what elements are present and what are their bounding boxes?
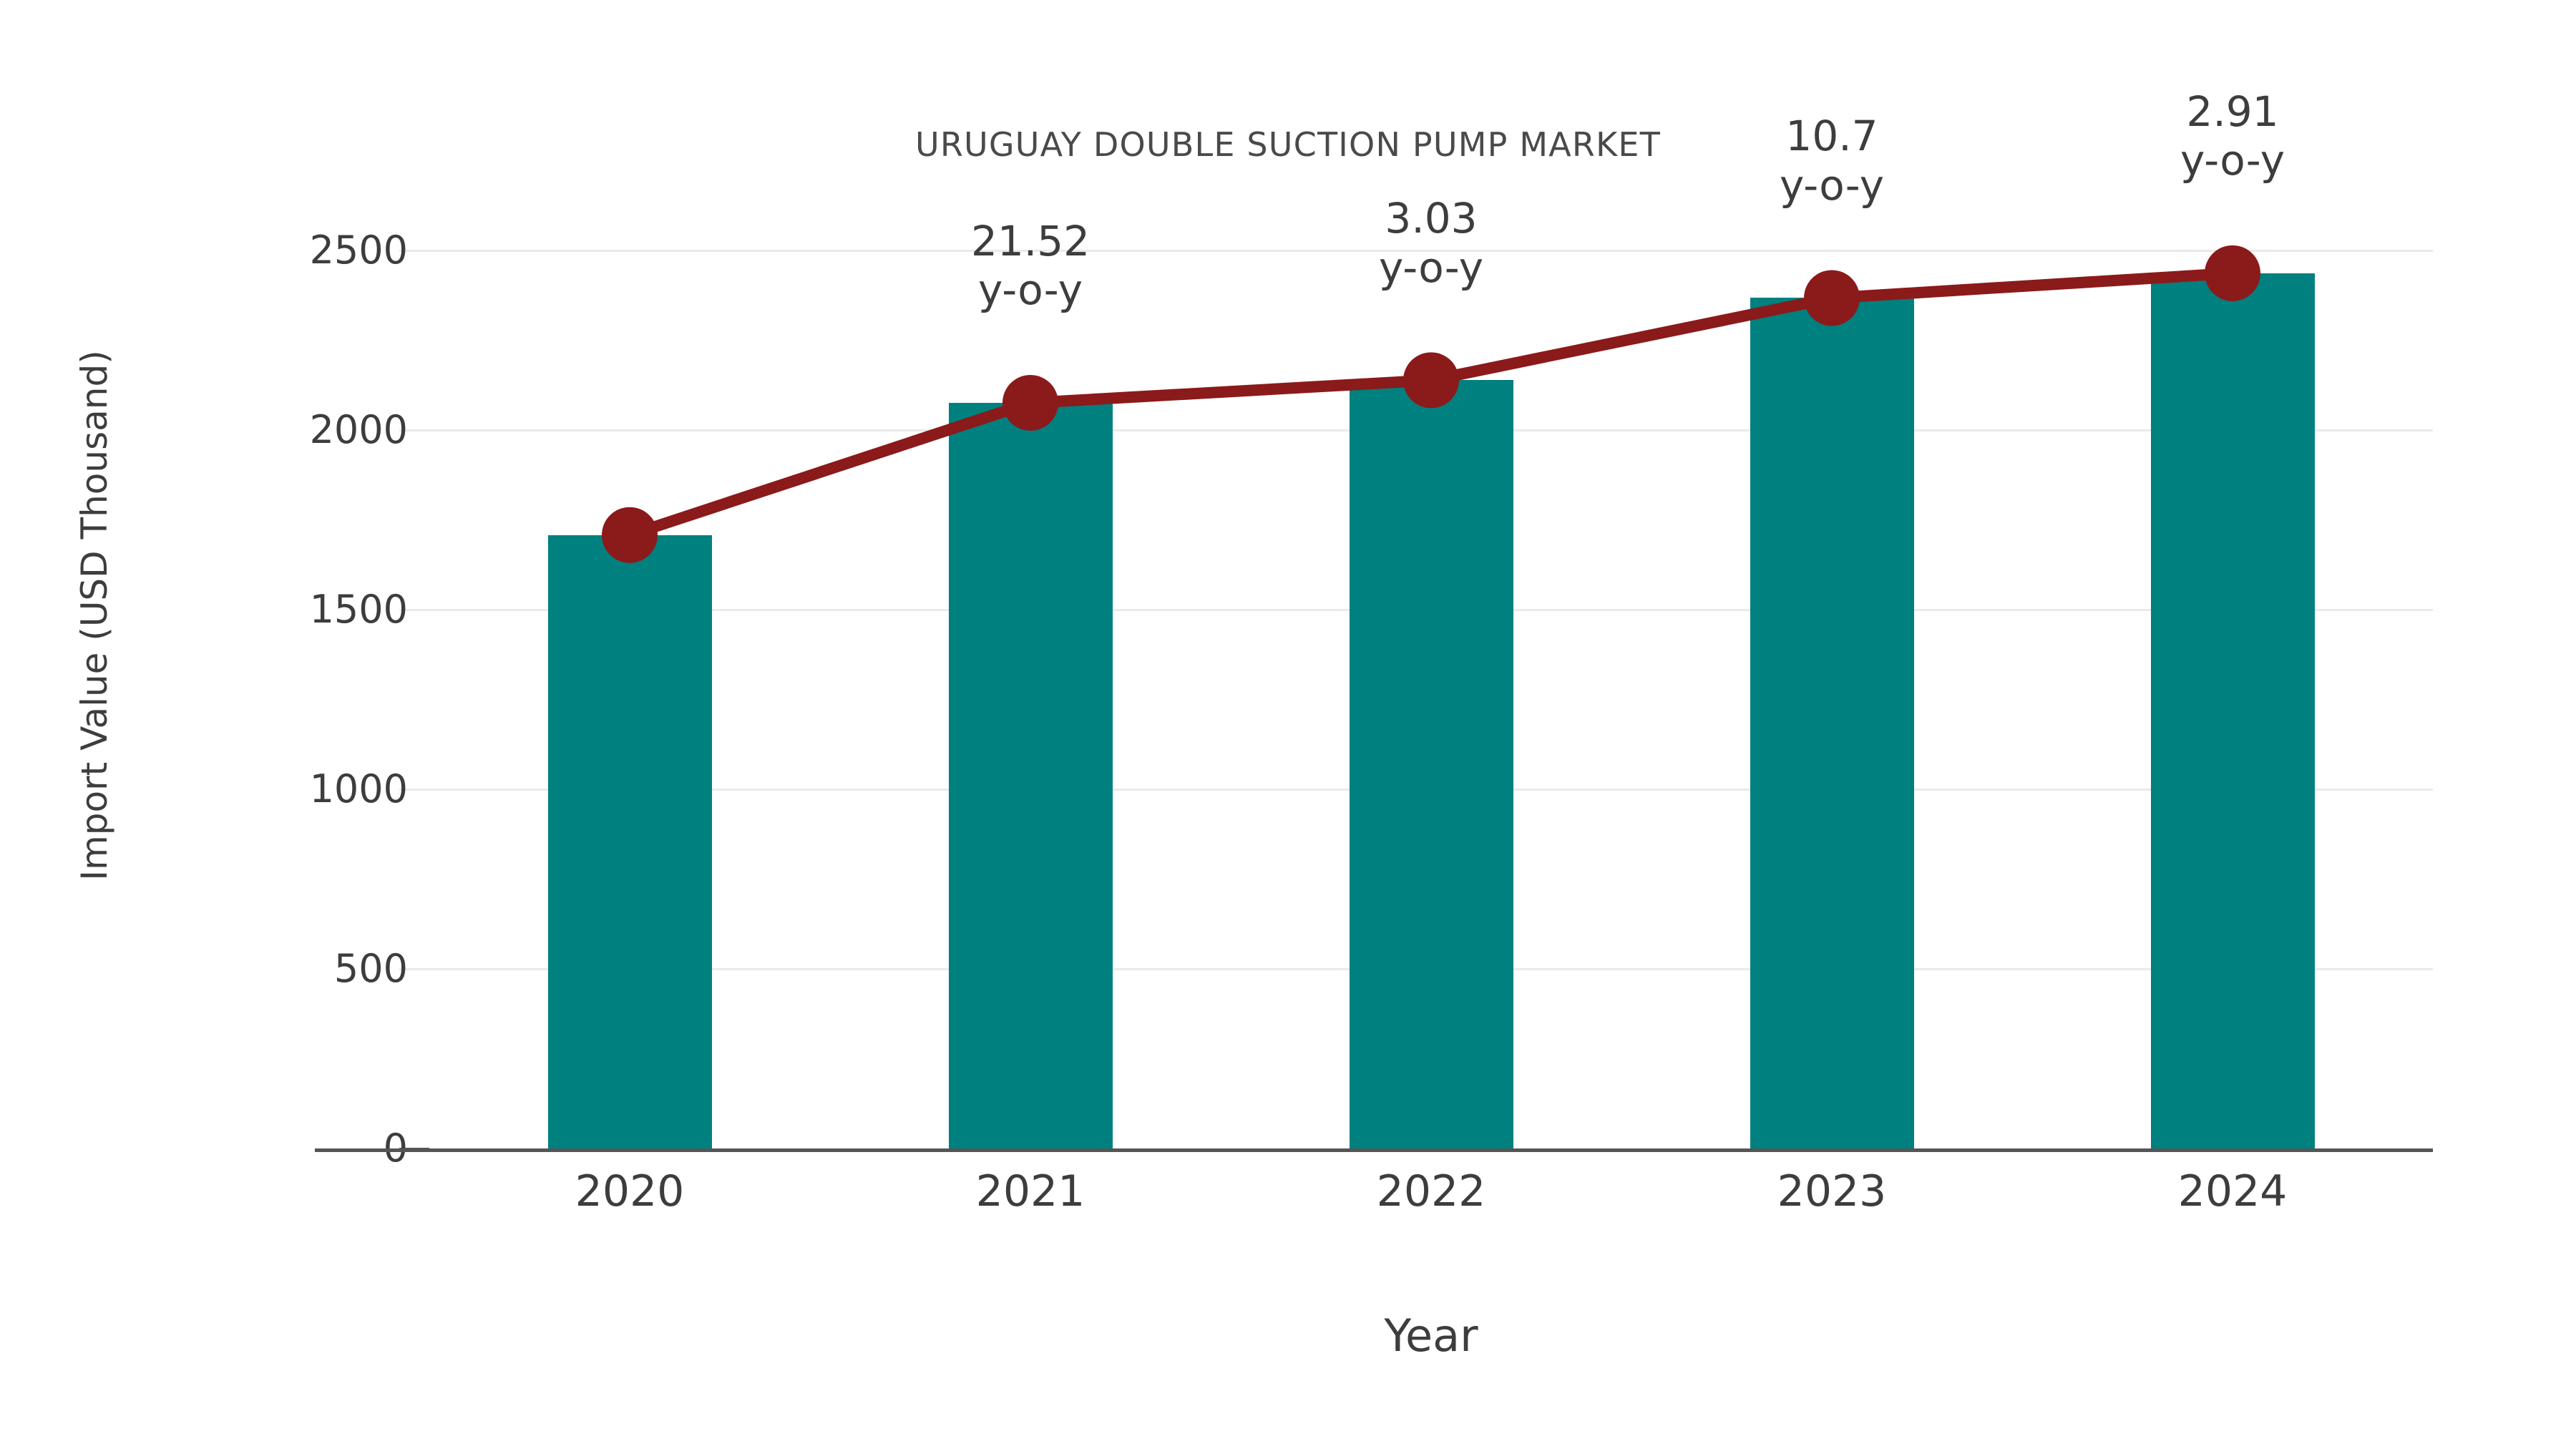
- annotation-unit: y-o-y: [880, 265, 1181, 314]
- annotation-value: 10.7: [1682, 112, 1982, 160]
- trend-line-series: [429, 215, 2433, 1148]
- bar-annotation: 10.7y-o-y: [1682, 112, 1982, 210]
- line-marker: [602, 507, 658, 563]
- bar-annotation: 21.52y-o-y: [880, 217, 1181, 315]
- annotation-unit: y-o-y: [2082, 136, 2383, 185]
- x-axis-tick-label: 2024: [2089, 1166, 2376, 1216]
- chart-figure: URUGUAY DOUBLE SUCTION PUMP MARKET 05001…: [0, 0, 2576, 1449]
- annotation-value: 2.91: [2082, 87, 2383, 136]
- line-marker: [2205, 245, 2260, 301]
- line-marker: [1403, 352, 1459, 408]
- line-marker: [1804, 270, 1860, 326]
- y-axis-tick-label: 2000: [179, 411, 408, 449]
- y-axis-tick-label: 500: [179, 950, 408, 988]
- y-axis-tick-label: 1000: [179, 770, 408, 809]
- line-marker: [1002, 375, 1058, 431]
- y-axis-title: Import Value (USD Thousand): [74, 350, 115, 880]
- bar-annotation: 2.91y-o-y: [2082, 87, 2383, 185]
- annotation-value: 21.52: [880, 217, 1181, 265]
- y-axis-tick-label: 2500: [179, 231, 408, 270]
- x-axis-tick-label: 2023: [1689, 1166, 1975, 1216]
- x-axis-tick-label: 2022: [1288, 1166, 1574, 1216]
- plot-area: 05001000150020002500 Import Value (USD T…: [429, 215, 2433, 1148]
- x-axis-title: Year: [429, 1309, 2433, 1362]
- x-axis-line: [315, 1148, 2433, 1152]
- x-axis-tick-label: 2020: [487, 1166, 773, 1216]
- annotation-unit: y-o-y: [1281, 243, 1581, 292]
- x-axis-tick-label: 2021: [887, 1166, 1174, 1216]
- y-axis-tick-label: 1500: [179, 590, 408, 629]
- annotation-unit: y-o-y: [1682, 161, 1982, 210]
- annotation-value: 3.03: [1281, 194, 1581, 243]
- bar-annotation: 3.03y-o-y: [1281, 194, 1581, 292]
